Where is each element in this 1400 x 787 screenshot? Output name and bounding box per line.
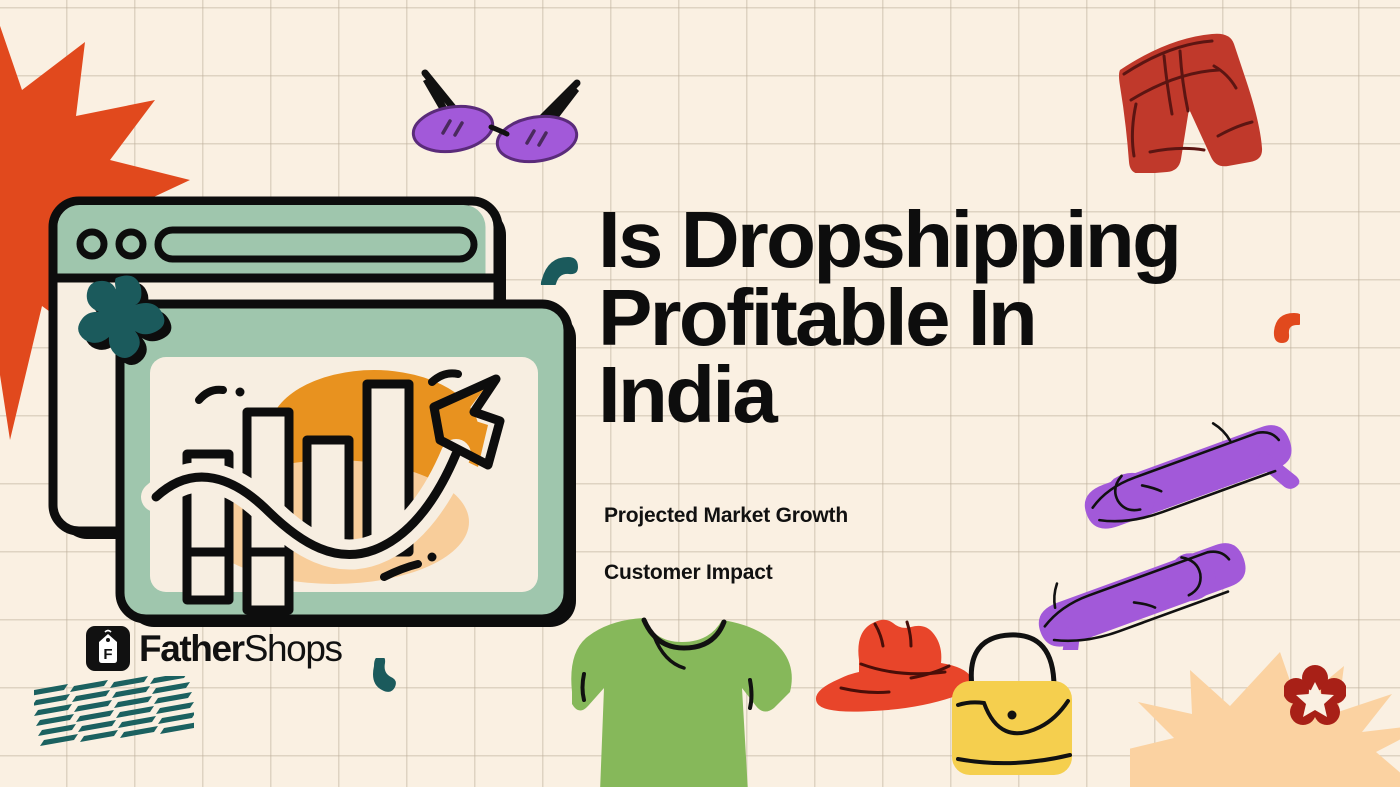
peach-starburst <box>1130 648 1400 787</box>
sunglasses-icon <box>405 55 590 165</box>
price-tag-icon: F <box>86 626 130 671</box>
striped-parallelogram <box>34 676 194 762</box>
brand-name-regular: Shops <box>244 628 342 669</box>
tshirt-icon <box>528 612 818 787</box>
brand-name: FatherShops <box>139 630 342 667</box>
brand-name-bold: Father <box>139 628 244 669</box>
browser-windows-growth-chart <box>44 192 584 632</box>
teal-arc-small-2 <box>368 658 398 696</box>
handbag-icon <box>940 615 1085 775</box>
brand-logo: F FatherShops <box>86 626 342 671</box>
title-block: Is Dropshipping Profitable In India <box>598 201 1358 434</box>
poster-canvas: Is Dropshipping Profitable In India Proj… <box>0 0 1400 787</box>
hat-icon <box>815 612 975 712</box>
red-flower-icon <box>1284 664 1346 726</box>
logo-mark-letter: F <box>103 646 112 663</box>
page-title: Is Dropshipping Profitable In India <box>598 201 1373 434</box>
shorts-icon <box>1098 18 1283 173</box>
subheading-projected-market-growth: Projected Market Growth <box>604 504 848 528</box>
subheading-customer-impact: Customer Impact <box>604 561 773 585</box>
